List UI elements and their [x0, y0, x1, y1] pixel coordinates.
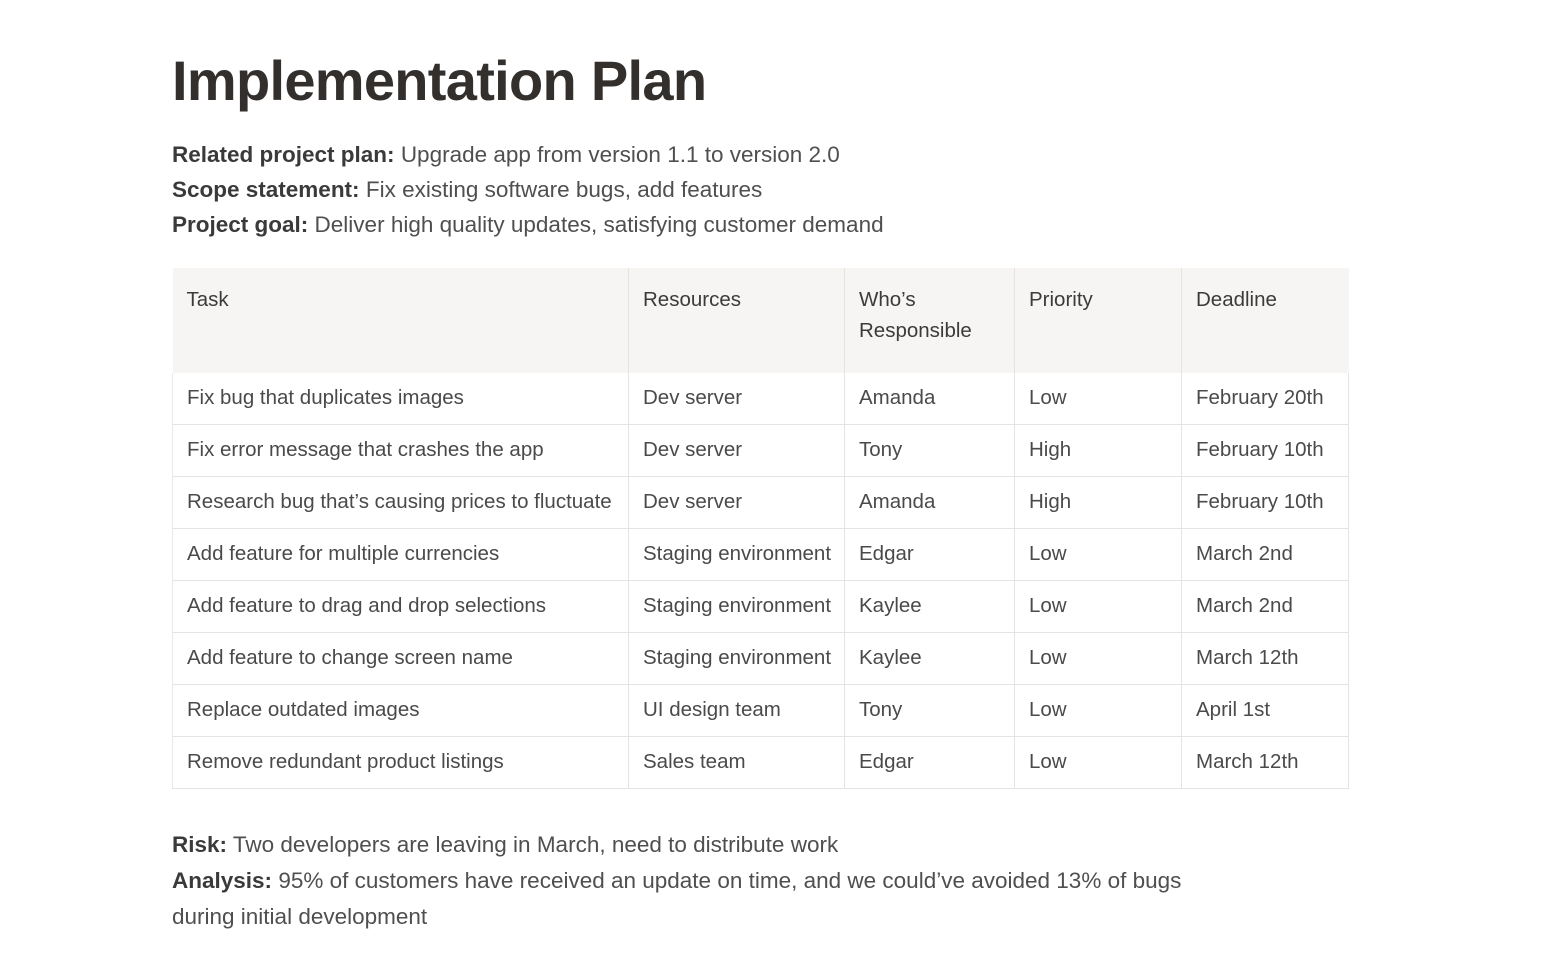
cell-resources: Staging environment — [629, 580, 845, 632]
intro-line-scope-statement: Scope statement: Fix existing software b… — [172, 172, 1552, 207]
table-row: Replace outdated images UI design team T… — [173, 684, 1349, 736]
cell-resources: Dev server — [629, 373, 845, 425]
intro-line-related-project-plan: Related project plan: Upgrade app from v… — [172, 137, 1552, 172]
intro-value: Deliver high quality updates, satisfying… — [315, 212, 884, 237]
cell-responsible: Kaylee — [845, 580, 1015, 632]
cell-priority: Low — [1015, 736, 1182, 788]
cell-priority: Low — [1015, 528, 1182, 580]
column-header-responsible: Who’s Responsible — [845, 268, 1015, 373]
table-header-row: Task Resources Who’s Responsible Priorit… — [173, 268, 1349, 373]
cell-resources: Staging environment — [629, 632, 845, 684]
cell-deadline: March 12th — [1182, 632, 1349, 684]
intro-line-project-goal: Project goal: Deliver high quality updat… — [172, 207, 1552, 242]
table-row: Add feature for multiple currencies Stag… — [173, 528, 1349, 580]
cell-task: Research bug that’s causing prices to fl… — [173, 476, 629, 528]
table-row: Research bug that’s causing prices to fl… — [173, 476, 1349, 528]
column-header-task: Task — [173, 268, 629, 373]
cell-resources: UI design team — [629, 684, 845, 736]
column-header-resources: Resources — [629, 268, 845, 373]
cell-resources: Staging environment — [629, 528, 845, 580]
table-row: Remove redundant product listings Sales … — [173, 736, 1349, 788]
column-header-deadline: Deadline — [1182, 268, 1349, 373]
cell-task: Fix bug that duplicates images — [173, 373, 629, 425]
cell-priority: High — [1015, 476, 1182, 528]
intro-value: Fix existing software bugs, add features — [366, 177, 762, 202]
document-page: Implementation Plan Related project plan… — [0, 0, 1552, 968]
page-title: Implementation Plan — [172, 52, 1552, 111]
cell-responsible: Tony — [845, 424, 1015, 476]
table-header: Task Resources Who’s Responsible Priorit… — [173, 268, 1349, 373]
intro-label: Related project plan: — [172, 142, 395, 167]
cell-deadline: March 2nd — [1182, 528, 1349, 580]
table-row: Fix error message that crashes the app D… — [173, 424, 1349, 476]
cell-deadline: April 1st — [1182, 684, 1349, 736]
cell-resources: Dev server — [629, 424, 845, 476]
column-header-priority: Priority — [1015, 268, 1182, 373]
cell-resources: Dev server — [629, 476, 845, 528]
cell-responsible: Kaylee — [845, 632, 1015, 684]
cell-deadline: February 20th — [1182, 373, 1349, 425]
cell-priority: Low — [1015, 684, 1182, 736]
intro-label: Scope statement: — [172, 177, 360, 202]
cell-responsible: Amanda — [845, 476, 1015, 528]
cell-deadline: February 10th — [1182, 476, 1349, 528]
cell-task: Fix error message that crashes the app — [173, 424, 629, 476]
cell-priority: Low — [1015, 373, 1182, 425]
table-row: Add feature to change screen name Stagin… — [173, 632, 1349, 684]
cell-task: Replace outdated images — [173, 684, 629, 736]
footer-value: 95% of customers have received an update… — [172, 868, 1181, 929]
footer-label: Analysis: — [172, 868, 272, 893]
footer-line-analysis: Analysis: 95% of customers have received… — [172, 863, 1232, 935]
table-body: Fix bug that duplicates images Dev serve… — [173, 373, 1349, 789]
footer-line-risk: Risk: Two developers are leaving in Marc… — [172, 827, 1232, 863]
cell-responsible: Amanda — [845, 373, 1015, 425]
cell-task: Remove redundant product listings — [173, 736, 629, 788]
cell-deadline: February 10th — [1182, 424, 1349, 476]
cell-deadline: March 2nd — [1182, 580, 1349, 632]
cell-deadline: March 12th — [1182, 736, 1349, 788]
table-row: Add feature to drag and drop selections … — [173, 580, 1349, 632]
cell-priority: Low — [1015, 632, 1182, 684]
intro-value: Upgrade app from version 1.1 to version … — [401, 142, 840, 167]
implementation-plan-table: Task Resources Who’s Responsible Priorit… — [172, 268, 1349, 789]
table-row: Fix bug that duplicates images Dev serve… — [173, 373, 1349, 425]
footer-notes: Risk: Two developers are leaving in Marc… — [172, 827, 1232, 935]
cell-task: Add feature to drag and drop selections — [173, 580, 629, 632]
cell-resources: Sales team — [629, 736, 845, 788]
cell-task: Add feature to change screen name — [173, 632, 629, 684]
footer-label: Risk: — [172, 832, 227, 857]
cell-responsible: Edgar — [845, 528, 1015, 580]
cell-priority: High — [1015, 424, 1182, 476]
intro-summary: Related project plan: Upgrade app from v… — [172, 137, 1552, 242]
footer-value: Two developers are leaving in March, nee… — [233, 832, 838, 857]
intro-label: Project goal: — [172, 212, 308, 237]
cell-priority: Low — [1015, 580, 1182, 632]
cell-responsible: Tony — [845, 684, 1015, 736]
cell-responsible: Edgar — [845, 736, 1015, 788]
cell-task: Add feature for multiple currencies — [173, 528, 629, 580]
